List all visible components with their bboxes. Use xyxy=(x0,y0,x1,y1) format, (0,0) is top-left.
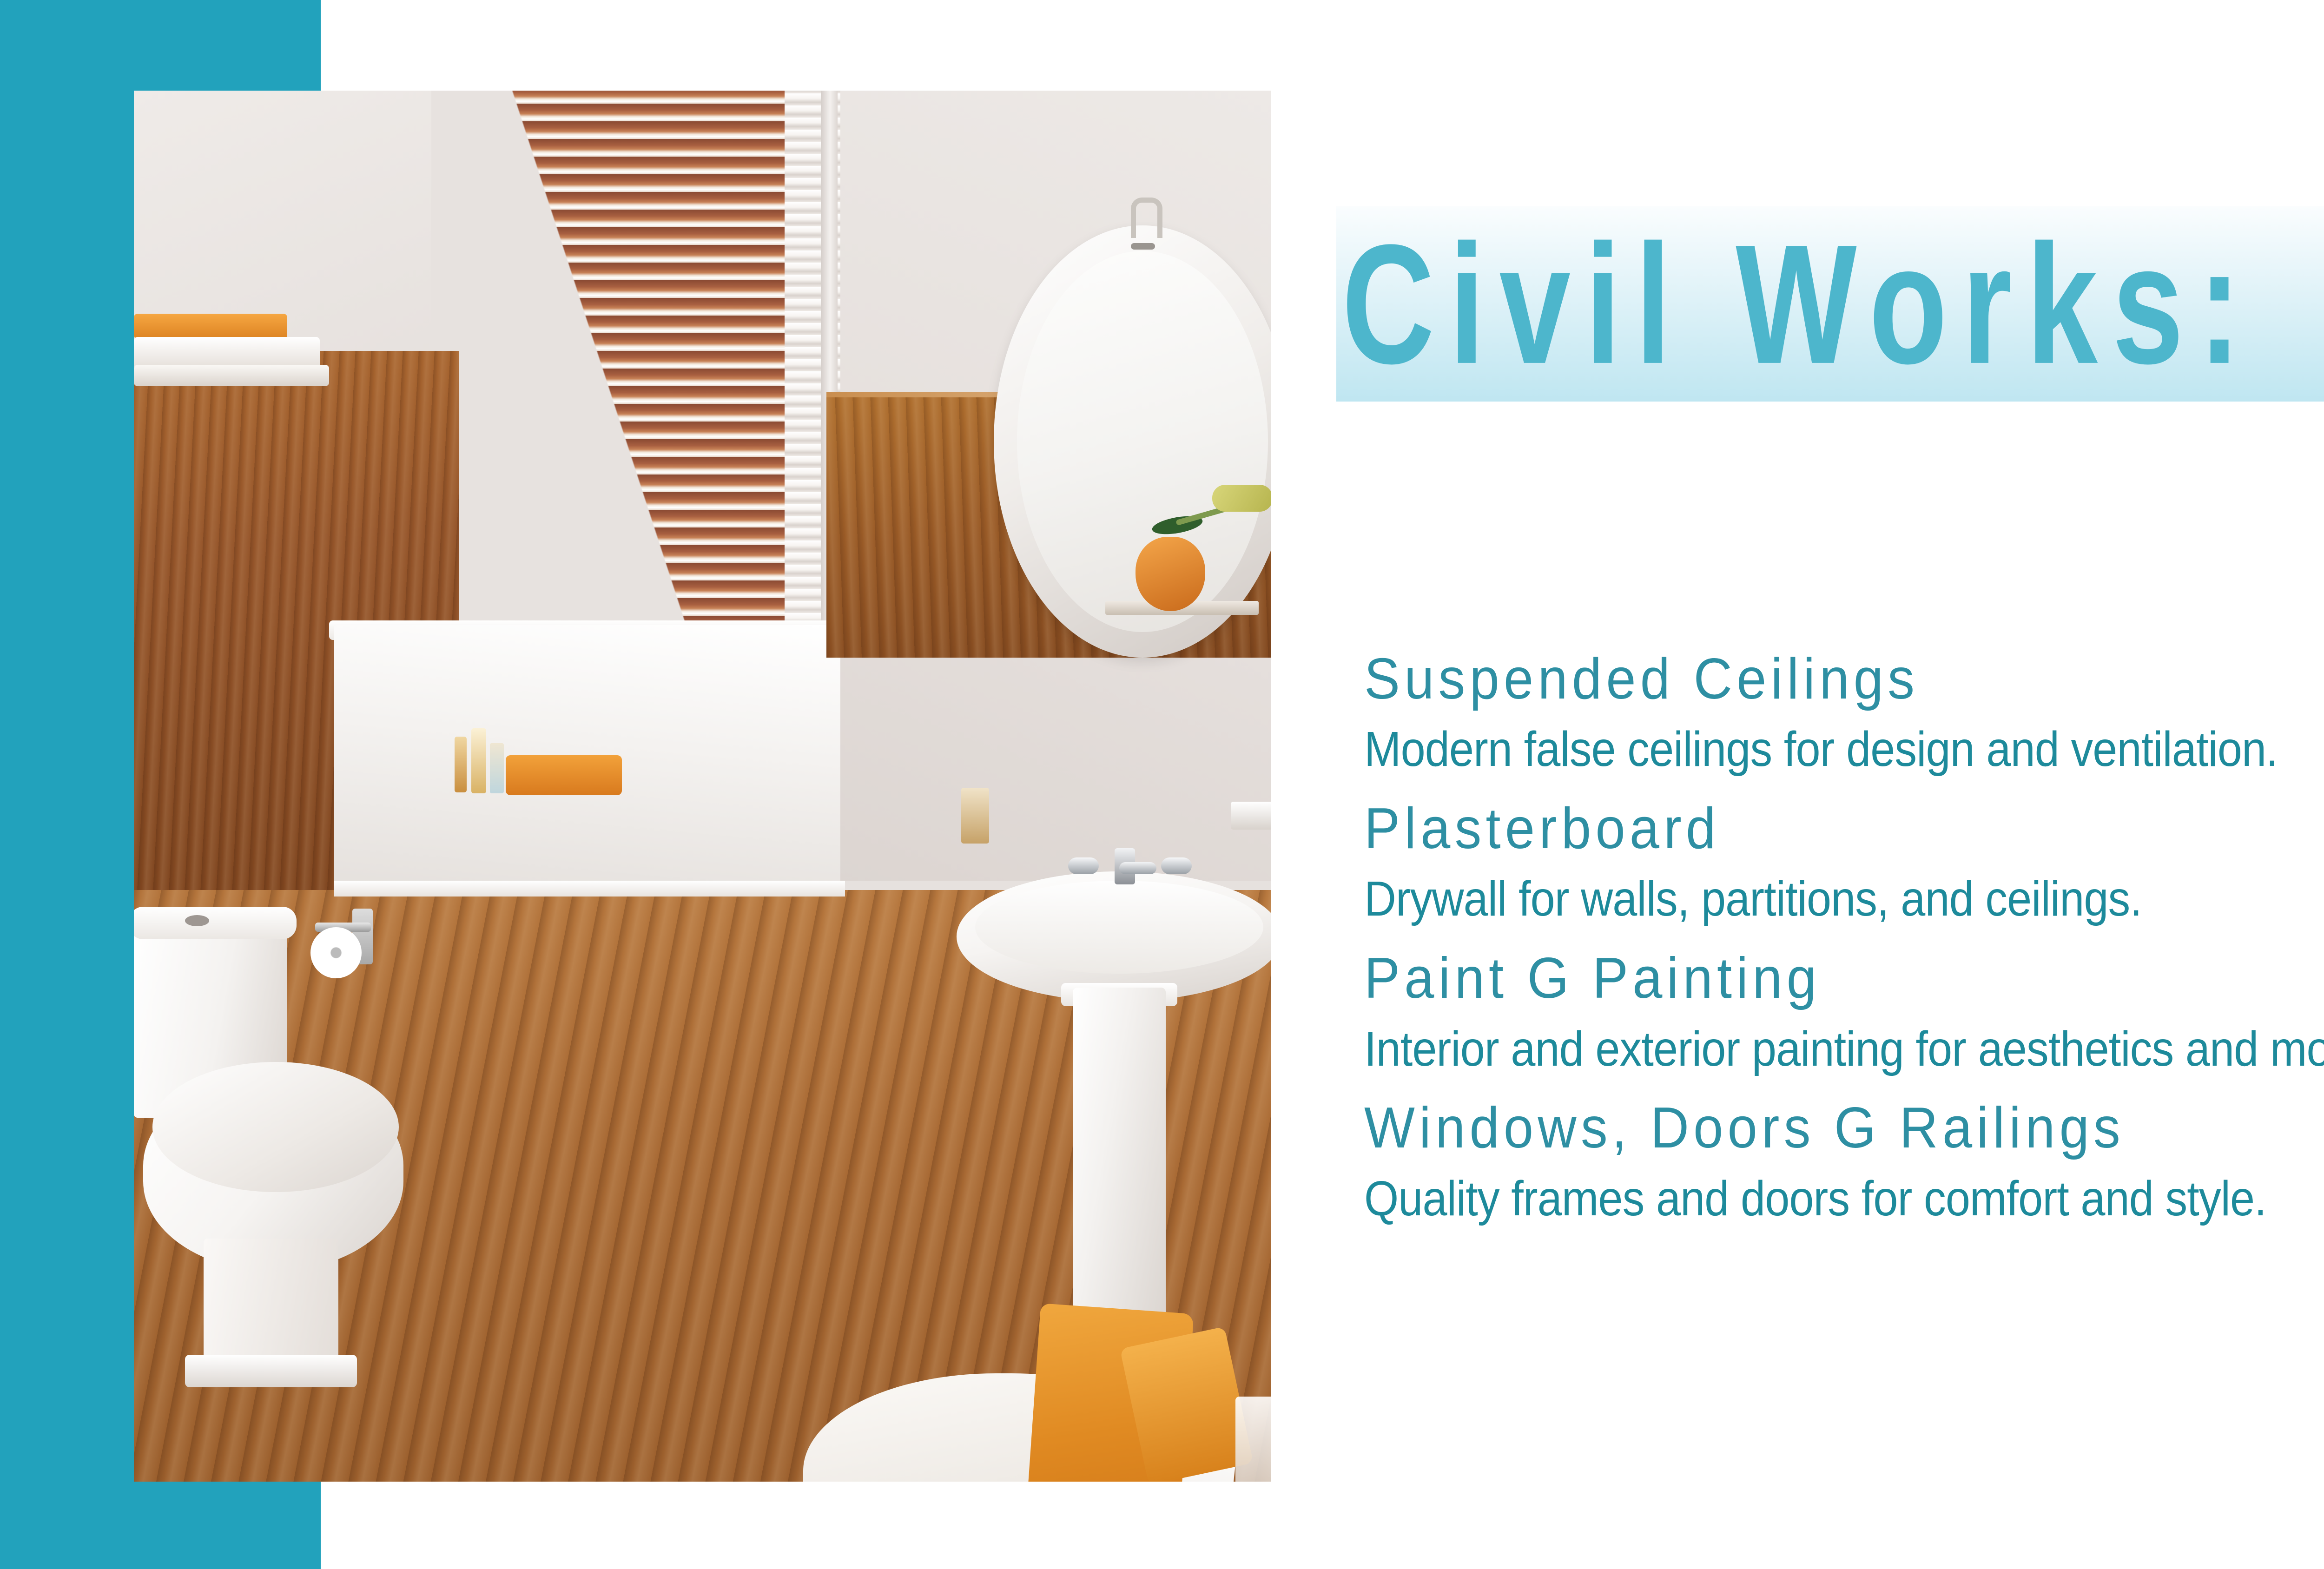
title-banner: Civil Works: xyxy=(1336,206,2324,402)
service-heading: Windows, Doors G Railings xyxy=(1364,1094,2324,1162)
orange-towel-shelf xyxy=(134,314,287,339)
sink-basin-inner xyxy=(975,881,1263,974)
page-title: Civil Works: xyxy=(1342,219,2255,389)
mirror-hook-icon xyxy=(1131,198,1162,238)
reflected-orange-vase xyxy=(1136,537,1205,611)
bottle-short xyxy=(490,743,504,793)
mirror-nail xyxy=(1131,243,1155,250)
service-description: Modern false ceilings for design and ven… xyxy=(1364,718,2324,782)
sink-pedestal xyxy=(1073,988,1166,1341)
shelf-accessory xyxy=(1231,802,1271,830)
soap-dispenser xyxy=(961,788,989,844)
list-item: Windows, Doors G Railings Quality frames… xyxy=(1364,1094,2324,1231)
toilet-paper-roll xyxy=(310,927,362,978)
faucet-handle-left xyxy=(1068,857,1099,874)
list-item: Suspended Ceilings Modern false ceilings… xyxy=(1364,645,2324,782)
toilet-foot xyxy=(185,1355,357,1387)
service-heading: Paint G Painting xyxy=(1364,944,2324,1012)
bottle-amber xyxy=(455,737,467,792)
reflected-flower xyxy=(1212,485,1271,512)
bottle-tall xyxy=(471,728,486,793)
toilet-seat-lid xyxy=(152,1062,399,1192)
service-description: Interior and exterior painting for aesth… xyxy=(1364,1017,2324,1081)
toilet-tank-lid xyxy=(134,907,297,939)
white-towel-shelf-2 xyxy=(134,365,329,386)
service-description: Quality frames and doors for comfort and… xyxy=(1364,1167,2324,1231)
service-heading: Suspended Ceilings xyxy=(1364,645,2324,713)
list-item: Paint G Painting Interior and exterior p… xyxy=(1364,944,2324,1081)
faucet-spout xyxy=(1119,862,1156,874)
service-heading: Plasterboard xyxy=(1364,795,2324,863)
toilet-flush-button xyxy=(185,915,209,926)
service-description: Drywall for walls, partitions, and ceili… xyxy=(1364,867,2324,931)
bathroom-photo xyxy=(134,91,1271,1482)
services-list: Suspended Ceilings Modern false ceilings… xyxy=(1364,645,2324,1244)
glass-object-floor xyxy=(1235,1397,1271,1482)
orange-towel-sill xyxy=(506,755,622,795)
tub-skirt-panel xyxy=(334,881,845,897)
faucet-handle-right xyxy=(1161,857,1192,874)
list-item: Plasterboard Drywall for walls, partitio… xyxy=(1364,795,2324,931)
